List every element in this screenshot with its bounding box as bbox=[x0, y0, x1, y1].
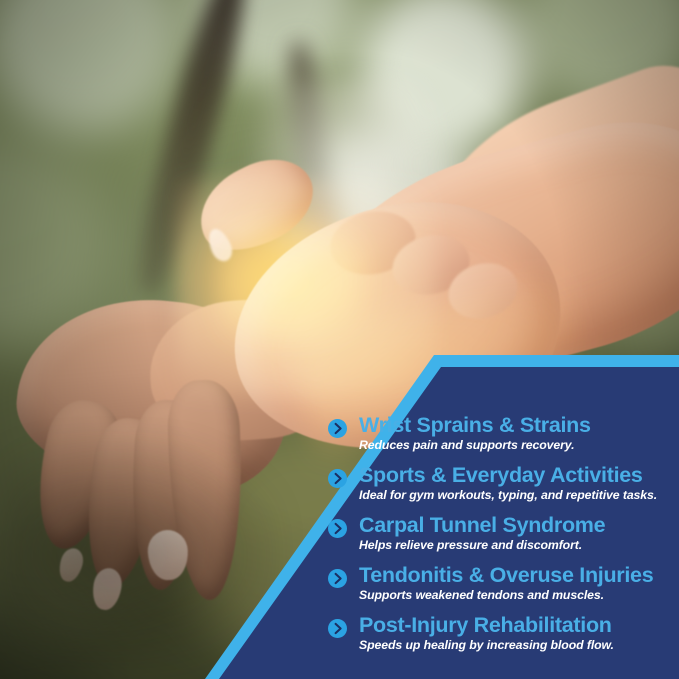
benefit-title: Tendonitis & Overuse Injuries bbox=[359, 564, 679, 587]
list-item[interactable]: Wrist Sprains & Strains Reduces pain and… bbox=[328, 414, 679, 464]
benefit-description: Speeds up healing by increasing blood fl… bbox=[359, 638, 679, 653]
benefit-description: Ideal for gym workouts, typing, and repe… bbox=[359, 488, 679, 503]
product-feature-graphic: Wrist Sprains & Strains Reduces pain and… bbox=[0, 0, 679, 679]
benefit-title: Wrist Sprains & Strains bbox=[359, 414, 679, 437]
benefit-description: Supports weakened tendons and muscles. bbox=[359, 588, 679, 603]
list-item[interactable]: Post-Injury Rehabilitation Speeds up hea… bbox=[328, 614, 679, 664]
benefit-description: Helps relieve pressure and discomfort. bbox=[359, 538, 679, 553]
benefit-title: Sports & Everyday Activities bbox=[359, 464, 679, 487]
circle-chevron-right-icon bbox=[328, 419, 347, 438]
benefit-title: Post-Injury Rehabilitation bbox=[359, 614, 679, 637]
benefits-list: Wrist Sprains & Strains Reduces pain and… bbox=[328, 414, 679, 664]
list-item[interactable]: Carpal Tunnel Syndrome Helps relieve pre… bbox=[328, 514, 679, 564]
list-item[interactable]: Tendonitis & Overuse Injuries Supports w… bbox=[328, 564, 679, 614]
circle-chevron-right-icon bbox=[328, 569, 347, 588]
benefit-title: Carpal Tunnel Syndrome bbox=[359, 514, 679, 537]
list-item[interactable]: Sports & Everyday Activities Ideal for g… bbox=[328, 464, 679, 514]
benefit-description: Reduces pain and supports recovery. bbox=[359, 438, 679, 453]
circle-chevron-right-icon bbox=[328, 519, 347, 538]
circle-chevron-right-icon bbox=[328, 469, 347, 488]
circle-chevron-right-icon bbox=[328, 619, 347, 638]
